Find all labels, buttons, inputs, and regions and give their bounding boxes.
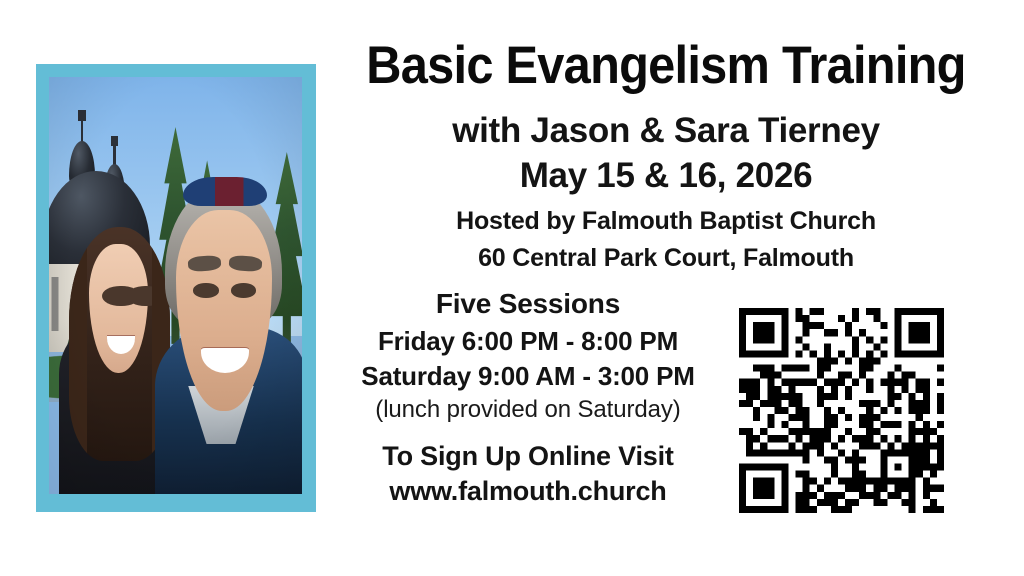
- page-title: Basic Evangelism Training: [362, 38, 969, 94]
- friday-schedule: Friday 6:00 PM - 8:00 PM: [318, 326, 738, 357]
- sunglasses-icon: [183, 177, 266, 206]
- man-eye-left: [193, 283, 218, 297]
- presenter-line: with Jason & Sara Tierney: [336, 110, 996, 151]
- qr-code[interactable]: [739, 308, 944, 513]
- flyer-canvas: Basic Evangelism Training with Jason & S…: [0, 0, 1024, 576]
- host-line: Hosted by Falmouth Baptist Church: [336, 206, 996, 238]
- sessions-heading: Five Sessions: [318, 288, 738, 320]
- signup-url[interactable]: www.falmouth.church: [318, 476, 738, 507]
- saturday-schedule: Saturday 9:00 AM - 3:00 PM: [318, 361, 738, 392]
- lunch-note: (lunch provided on Saturday): [318, 396, 738, 424]
- signup-label: To Sign Up Online Visit: [318, 441, 738, 472]
- man-eye-right: [231, 283, 256, 297]
- event-dates: May 15 & 16, 2026: [336, 155, 996, 196]
- photo-frame: [36, 64, 316, 512]
- venue-address: 60 Central Park Court, Falmouth: [336, 243, 996, 275]
- couple-church-photo: [49, 77, 302, 494]
- qr-code-canvas[interactable]: [739, 308, 944, 513]
